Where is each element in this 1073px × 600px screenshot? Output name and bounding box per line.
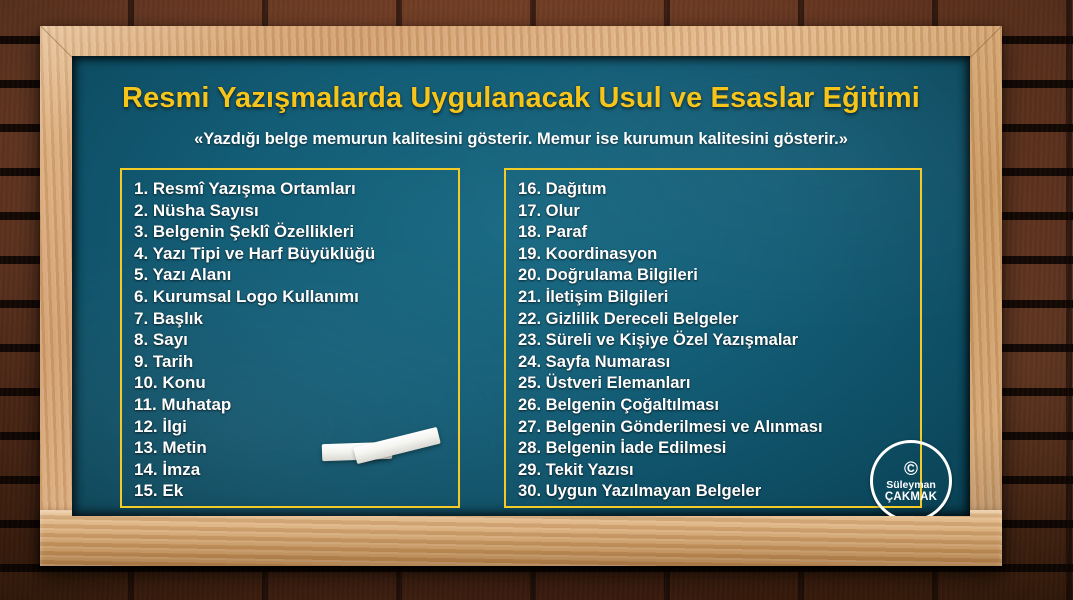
- list-item: 6. Kurumsal Logo Kullanımı: [134, 286, 448, 308]
- list-item: 15. Ek: [134, 480, 448, 502]
- list-item: 14. İmza: [134, 459, 448, 481]
- list-item: 11. Muhatap: [134, 394, 448, 416]
- page-title: Resmi Yazışmalarda Uygulanacak Usul ve E…: [72, 82, 970, 115]
- chalk-ledge: [40, 510, 1002, 566]
- list-item: 26. Belgenin Çoğaltılması: [518, 394, 910, 416]
- list-item: 25. Üstveri Elemanları: [518, 372, 910, 394]
- list-item: 28. Belgenin İade Edilmesi: [518, 437, 910, 459]
- list-item: 23. Süreli ve Kişiye Özel Yazışmalar: [518, 329, 910, 351]
- list-item: 27. Belgenin Gönderilmesi ve Alınması: [518, 416, 910, 438]
- list-item: 18. Paraf: [518, 221, 910, 243]
- list-item: 16. Dağıtım: [518, 178, 910, 200]
- list-item: 8. Sayı: [134, 329, 448, 351]
- page-subtitle-quote: «Yazdığı belge memurun kalitesini göster…: [72, 130, 970, 149]
- topic-list-box-right: 16. Dağıtım 17. Olur 18. Paraf 19. Koord…: [504, 168, 922, 508]
- topic-list-box-left: 1. Resmî Yazışma Ortamları 2. Nüsha Sayı…: [120, 168, 460, 508]
- list-item: 7. Başlık: [134, 308, 448, 330]
- list-item: 10. Konu: [134, 372, 448, 394]
- list-item: 20. Doğrulama Bilgileri: [518, 264, 910, 286]
- list-item: 12. İlgi: [134, 416, 448, 438]
- watermark-last-name: ÇAKMAK: [885, 491, 937, 503]
- list-item: 1. Resmî Yazışma Ortamları: [134, 178, 448, 200]
- watermark-logo: © Süleyman ÇAKMAK: [870, 440, 952, 516]
- chalkboard: Resmi Yazışmalarda Uygulanacak Usul ve E…: [72, 56, 970, 516]
- watermark-first-name: Süleyman: [886, 480, 936, 491]
- list-item: 17. Olur: [518, 200, 910, 222]
- list-item: 30. Uygun Yazılmayan Belgeler: [518, 480, 910, 502]
- topic-list-right: 16. Dağıtım 17. Olur 18. Paraf 19. Koord…: [518, 178, 910, 502]
- list-item: 3. Belgenin Şeklî Özellikleri: [134, 221, 448, 243]
- list-item: 9. Tarih: [134, 351, 448, 373]
- list-item: 5. Yazı Alanı: [134, 264, 448, 286]
- list-item: 29. Tekit Yazısı: [518, 459, 910, 481]
- list-item: 22. Gizlilik Dereceli Belgeler: [518, 308, 910, 330]
- topic-list-left: 1. Resmî Yazışma Ortamları 2. Nüsha Sayı…: [134, 178, 448, 502]
- list-item: 21. İletişim Bilgileri: [518, 286, 910, 308]
- list-item: 19. Koordinasyon: [518, 243, 910, 265]
- list-item: 24. Sayfa Numarası: [518, 351, 910, 373]
- topic-columns: 1. Resmî Yazışma Ortamları 2. Nüsha Sayı…: [72, 168, 970, 508]
- copyright-icon: ©: [904, 460, 918, 479]
- list-item: 2. Nüsha Sayısı: [134, 200, 448, 222]
- list-item: 4. Yazı Tipi ve Harf Büyüklüğü: [134, 243, 448, 265]
